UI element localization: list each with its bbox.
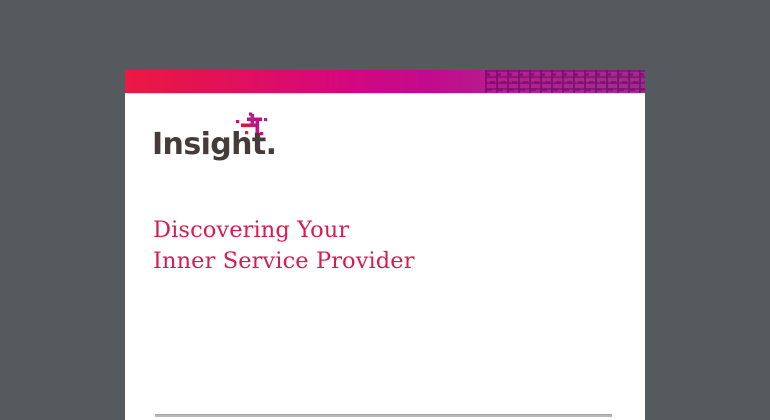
insight-cross-logo-icon [235, 112, 269, 142]
document-cover-page[interactable]: Insight. Discovering Your Inner Service … [125, 70, 645, 420]
header-pattern-overlay [485, 70, 645, 93]
pattern-dash-row [485, 73, 645, 76]
gradient-header-band [125, 70, 645, 93]
pattern-dash-row [485, 88, 645, 91]
header-band-shadow [125, 93, 645, 94]
page-title: Discovering Your Inner Service Provider [153, 215, 573, 277]
screenshot-viewport: Insight. Discovering Your Inner Service … [0, 0, 770, 420]
bottom-divider [155, 414, 612, 417]
insight-logo[interactable]: Insight. [152, 112, 302, 160]
page-title-line-1: Discovering Your [153, 215, 573, 246]
page-title-line-2: Inner Service Provider [153, 246, 573, 277]
pattern-dash-row [485, 81, 645, 84]
